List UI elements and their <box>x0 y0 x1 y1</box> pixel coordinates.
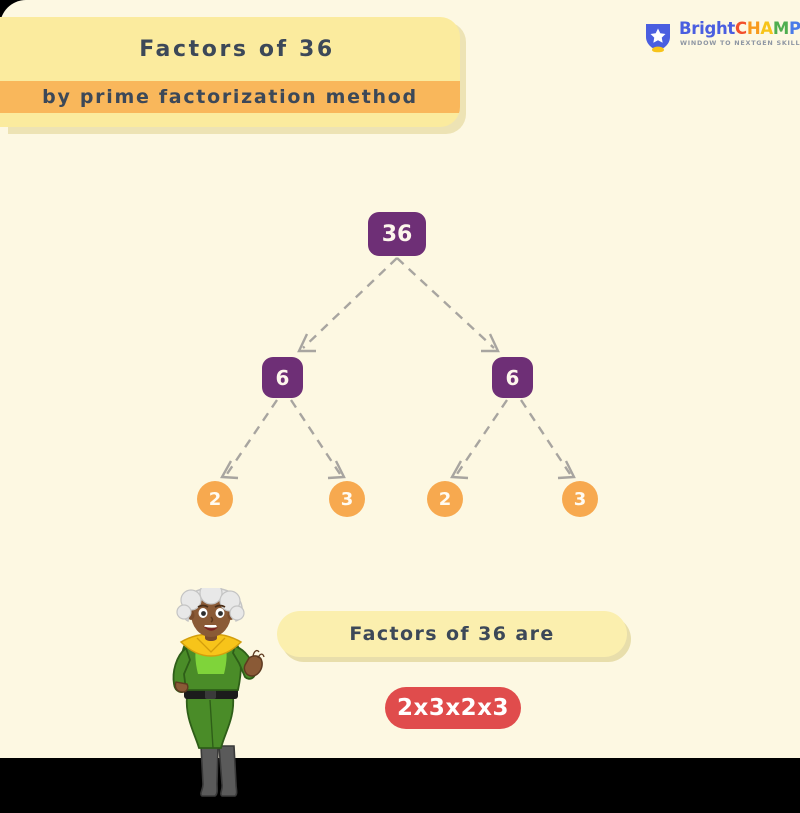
tree-leaf-2[interactable]: 3 <box>329 481 365 517</box>
teacher-character-illustration <box>157 588 269 800</box>
tree-leaf-1[interactable]: 2 <box>197 481 233 517</box>
tree-node-level1-left[interactable]: 6 <box>262 357 303 398</box>
screenshot-stage: Factors of 36 by prime factorization met… <box>0 0 800 813</box>
tree-node-level1-right[interactable]: 6 <box>492 357 533 398</box>
result-answer-badge: 2x3x2x3 <box>385 687 521 729</box>
tree-leaf-3[interactable]: 2 <box>427 481 463 517</box>
tree-leaf-4[interactable]: 3 <box>562 481 598 517</box>
result-caption: Factors of 36 are <box>277 611 627 657</box>
factor-tree-edges <box>0 0 800 560</box>
tree-node-root[interactable]: 36 <box>368 212 426 256</box>
worksheet-canvas: Factors of 36 by prime factorization met… <box>0 0 800 758</box>
